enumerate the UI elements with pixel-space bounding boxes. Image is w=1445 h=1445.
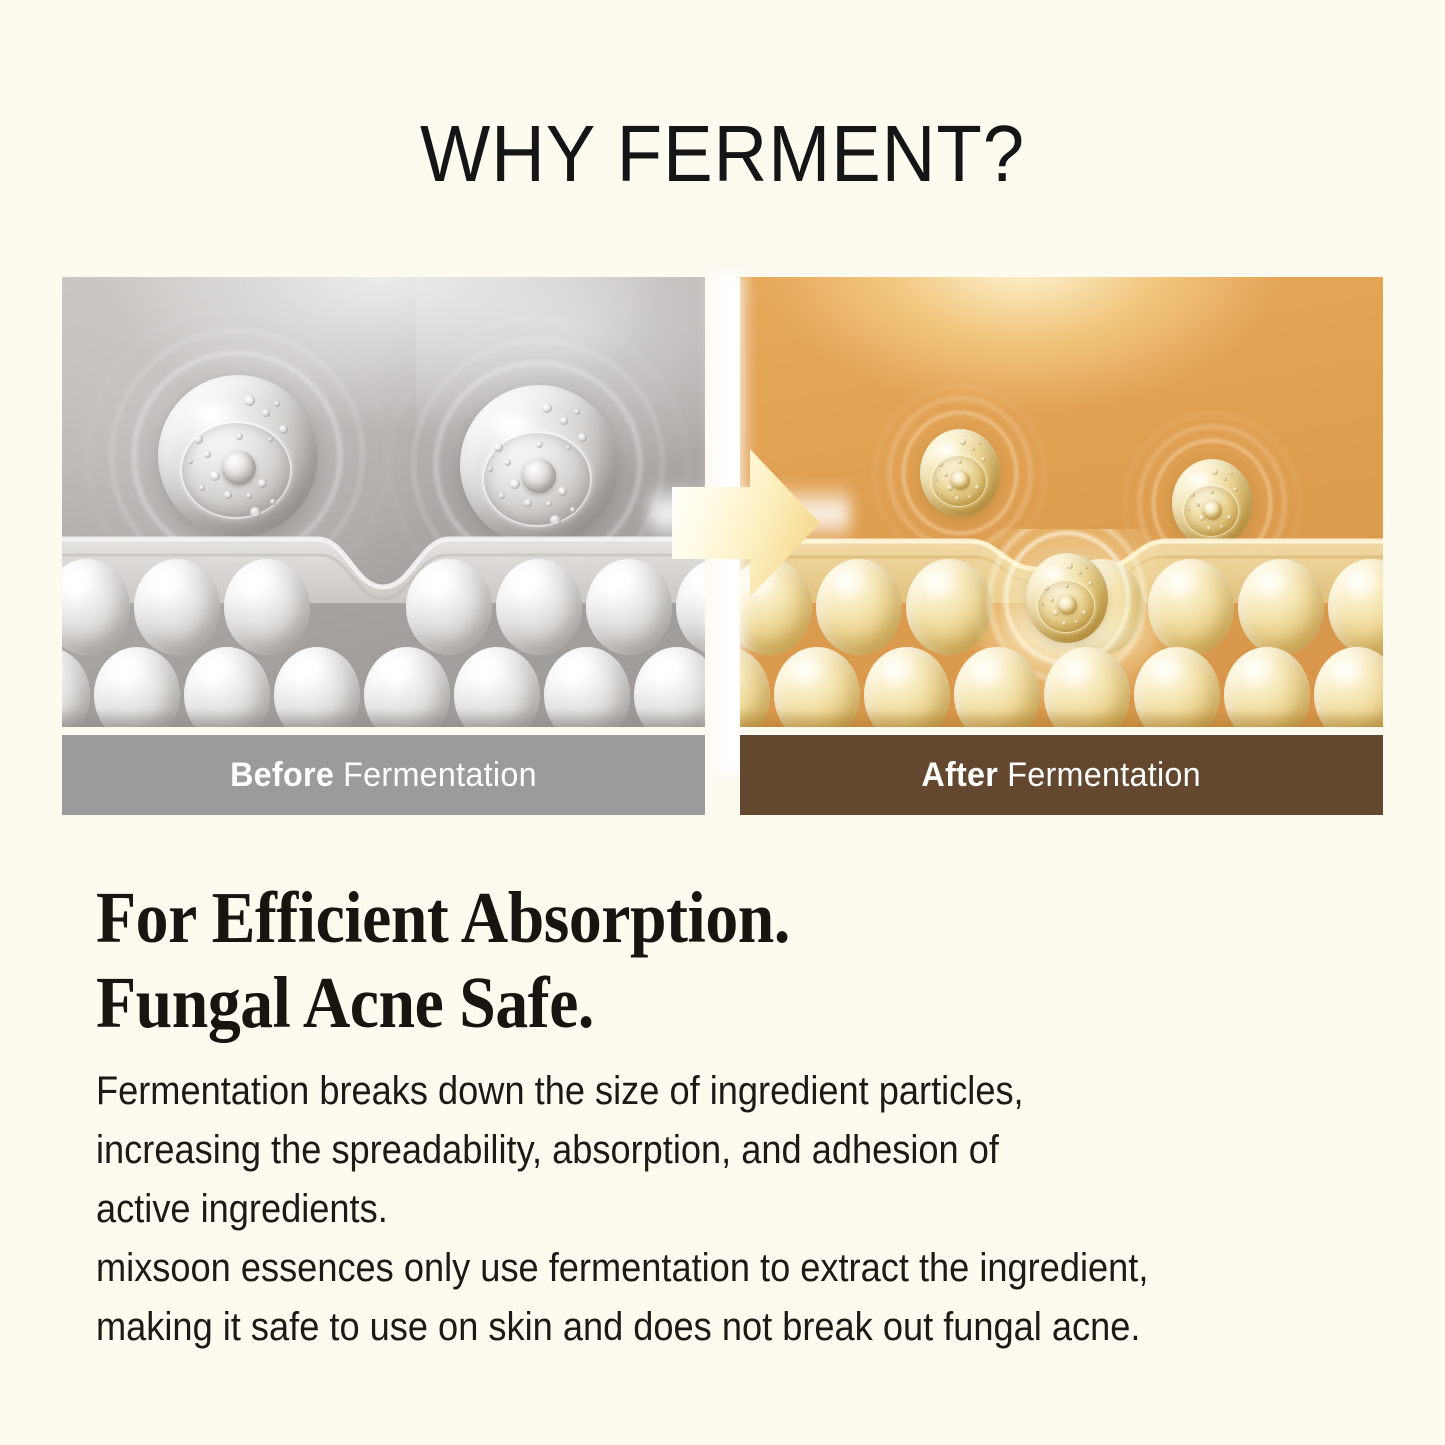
molecule-droplet-icon [920,429,1000,517]
skin-cell [62,559,130,655]
body-copy: Fermentation breaks down the size of ing… [96,1062,1386,1357]
skin-base-shadow [62,709,705,727]
pearl-row [62,559,705,655]
molecule-droplet-icon [1026,553,1108,643]
molecule-droplet-icon [158,375,318,537]
headline: For Efficient Absorption. Fungal Acne Sa… [96,876,1356,1045]
skin-cell [496,559,582,655]
skin-cell [1328,559,1383,655]
promotional-infographic: WHY FERMENT? [0,0,1445,1445]
before-fermentation-image [62,277,705,727]
before-label-text: Fermentation [343,756,537,794]
after-label-emphasis: After [922,756,999,794]
after-label-text: Fermentation [1008,756,1202,794]
body-line-3: active ingredients. [96,1180,1263,1239]
skin-cell [406,559,492,655]
molecule-droplet-icon [460,385,618,545]
skin-cell [134,559,220,655]
page-title: WHY FERMENT? [51,108,1395,200]
skin-cell [1238,559,1324,655]
body-line-4: mixsoon essences only use fermentation t… [96,1239,1263,1298]
skin-cell-layer [62,529,705,727]
body-line-5: making it safe to use on skin and does n… [96,1298,1263,1357]
after-label-bar: AfterFermentation [740,735,1383,815]
before-label-bar: BeforeFermentation [62,735,705,815]
skin-base-shadow [740,709,1383,727]
transition-arrow [660,443,820,603]
headline-line-1: For Efficient Absorption. [96,876,1230,961]
skin-cell-layer [740,529,1383,727]
before-after-comparison: BeforeFermentation AfterFermentation [62,277,1383,815]
skin-cell [816,559,902,655]
body-line-1: Fermentation breaks down the size of ing… [96,1062,1263,1121]
before-label-emphasis: Before [230,756,334,794]
body-line-2: increasing the spreadability, absorption… [96,1121,1263,1180]
skin-cell [224,559,310,655]
right-arrow-icon [672,443,820,603]
headline-line-2: Fungal Acne Safe. [96,961,1230,1046]
